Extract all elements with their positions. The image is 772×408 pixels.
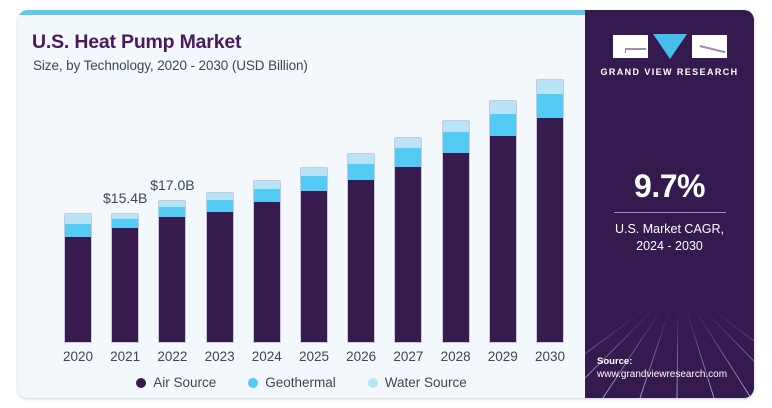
- cagr-divider: [614, 212, 726, 213]
- bar-segment-water-source-2025: [300, 167, 328, 176]
- legend-swatch-air-source: [136, 378, 146, 388]
- source-block: Source: www.grandviewresearch.com: [597, 355, 747, 382]
- chart-panel: U.S. Heat Pump Market Size, by Technolog…: [18, 10, 585, 398]
- bar-2024[interactable]: [253, 180, 281, 343]
- bar-segment-geothermal-2029: [489, 114, 517, 136]
- legend-item-geothermal[interactable]: Geothermal: [248, 375, 336, 390]
- logo-g-icon: [613, 35, 648, 58]
- bar-segment-water-source-2029: [489, 100, 517, 113]
- bar-segment-water-source-2020: [64, 213, 92, 224]
- bar-2022[interactable]: [158, 200, 186, 343]
- bar-segment-geothermal-2026: [347, 164, 375, 181]
- bar-2028[interactable]: [442, 120, 470, 343]
- bar-segment-water-source-2022: [158, 200, 186, 207]
- bar-2021[interactable]: [111, 213, 139, 343]
- brand-logo: GRAND VIEW RESEARCH: [585, 34, 754, 77]
- bar-segment-geothermal-2020: [64, 224, 92, 237]
- x-axis-label-2022: 2022: [150, 349, 194, 364]
- cagr-caption-line2: 2024 - 2030: [585, 238, 754, 255]
- bar-2029[interactable]: [489, 100, 517, 343]
- bar-2027[interactable]: [394, 137, 422, 343]
- x-axis-label-2027: 2027: [386, 349, 430, 364]
- bar-2025[interactable]: [300, 167, 328, 343]
- source-label: Source:: [597, 355, 747, 368]
- x-axis-label-2024: 2024: [245, 349, 289, 364]
- bar-segment-air-source-2029: [489, 136, 517, 343]
- logo-v-triangle-icon: [653, 34, 687, 59]
- x-axis-label-2029: 2029: [481, 349, 525, 364]
- legend-label-air-source: Air Source: [153, 375, 216, 390]
- bar-segment-air-source-2021: [111, 228, 139, 343]
- bar-segment-air-source-2020: [64, 237, 92, 343]
- x-axis-label-2028: 2028: [434, 349, 478, 364]
- x-axis-label-2030: 2030: [528, 349, 572, 364]
- bar-segment-geothermal-2021: [111, 219, 139, 228]
- x-axis-label-2023: 2023: [198, 349, 242, 364]
- x-axis-label-2025: 2025: [292, 349, 336, 364]
- bar-segment-air-source-2025: [300, 191, 328, 343]
- logo-wordmark: GRAND VIEW RESEARCH: [585, 67, 754, 77]
- infographic-card: U.S. Heat Pump Market Size, by Technolog…: [18, 10, 754, 398]
- bar-segment-geothermal-2023: [206, 200, 234, 212]
- bar-segment-water-source-2030: [536, 79, 564, 94]
- bar-2020[interactable]: [64, 213, 92, 343]
- bar-segment-air-source-2026: [347, 180, 375, 343]
- bar-segment-water-source-2026: [347, 153, 375, 163]
- bar-segment-water-source-2024: [253, 180, 281, 188]
- chart-legend: Air Source Geothermal Water Source: [18, 375, 585, 390]
- source-url[interactable]: www.grandviewresearch.com: [597, 368, 747, 382]
- legend-swatch-water-source: [368, 378, 378, 388]
- bar-segment-air-source-2030: [536, 118, 564, 343]
- logo-r-icon: [692, 35, 727, 58]
- bar-segment-geothermal-2030: [536, 94, 564, 118]
- cagr-block: 9.7% U.S. Market CAGR, 2024 - 2030: [585, 168, 754, 255]
- bar-segment-air-source-2023: [206, 212, 234, 343]
- bar-segment-geothermal-2024: [253, 189, 281, 202]
- logo-marks: [585, 34, 754, 59]
- bar-segment-water-source-2023: [206, 192, 234, 200]
- legend-label-geothermal: Geothermal: [265, 375, 336, 390]
- bar-value-label-2022: $17.0B: [137, 177, 207, 193]
- bar-segment-geothermal-2025: [300, 176, 328, 191]
- bar-segment-air-source-2028: [442, 153, 470, 343]
- x-axis-label-2020: 2020: [56, 349, 100, 364]
- bar-segment-geothermal-2022: [158, 207, 186, 218]
- legend-swatch-geothermal: [248, 378, 258, 388]
- x-axis-label-2026: 2026: [339, 349, 383, 364]
- bar-segment-air-source-2027: [394, 167, 422, 343]
- legend-item-air-source[interactable]: Air Source: [136, 375, 216, 390]
- bar-segment-geothermal-2027: [394, 148, 422, 167]
- bar-2023[interactable]: [206, 192, 234, 343]
- bar-segment-water-source-2027: [394, 137, 422, 148]
- bar-2026[interactable]: [347, 153, 375, 343]
- x-axis-label-2021: 2021: [103, 349, 147, 364]
- chart-plot-area: 20202021$15.4B2022$17.0B2023202420252026…: [18, 10, 585, 398]
- bar-segment-water-source-2028: [442, 120, 470, 133]
- legend-item-water-source[interactable]: Water Source: [368, 375, 467, 390]
- bar-segment-geothermal-2028: [442, 132, 470, 152]
- cagr-caption-line1: U.S. Market CAGR,: [585, 221, 754, 238]
- cagr-value: 9.7%: [585, 168, 754, 205]
- bar-2030[interactable]: [536, 79, 564, 344]
- brand-panel: GRAND VIEW RESEARCH 9.7% U.S. Market CAG…: [585, 10, 754, 398]
- bar-segment-air-source-2024: [253, 202, 281, 343]
- legend-label-water-source: Water Source: [385, 375, 467, 390]
- bar-segment-air-source-2022: [158, 217, 186, 343]
